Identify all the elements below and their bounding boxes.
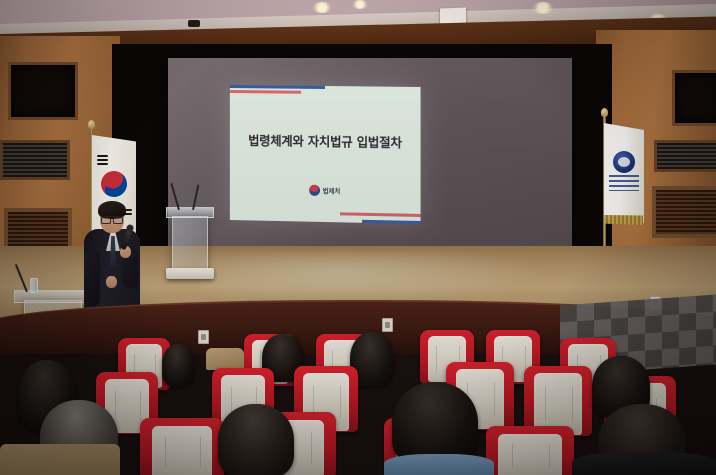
wall-vent-grille <box>654 140 716 172</box>
slide-accent-bar-red-bottom <box>340 212 421 217</box>
trigram <box>97 159 108 161</box>
wall-vent-grille <box>0 140 70 180</box>
slide-title: 법령체계와 자치법규 입법절차 <box>230 131 421 152</box>
ceiling-downlight <box>312 2 332 13</box>
trigram <box>97 163 108 165</box>
slide-logo-text: 법제처 <box>323 186 341 195</box>
glasses-icon <box>101 216 123 222</box>
power-outlet <box>382 318 393 332</box>
taegeuk-circle <box>99 169 130 200</box>
photo-scene: 법령체계와 자치법규 입법절차 법제처 <box>0 0 716 475</box>
slide-accent-bar-red-top <box>230 90 301 94</box>
ceiling-downlight <box>532 2 554 14</box>
projected-slide: 법령체계와 자치법규 입법절차 법제처 <box>230 85 421 224</box>
stage-lectern <box>172 216 208 272</box>
wall-dark-panel <box>8 62 78 120</box>
flag-finial-right <box>601 108 608 117</box>
trigram <box>97 155 108 157</box>
flag-finial-left <box>88 120 95 129</box>
audience-person <box>218 404 294 475</box>
institution-flag <box>604 123 644 223</box>
audience-coat <box>0 444 120 475</box>
power-outlet <box>198 330 209 344</box>
ceiling-camera <box>188 20 200 27</box>
slide-logo: 법제처 <box>230 183 421 198</box>
audience-shoulders <box>572 452 716 475</box>
speaker-hand-rest <box>106 276 117 288</box>
audience-shoulders <box>384 454 494 475</box>
ceiling-downlight <box>352 0 368 9</box>
taegeuk-icon <box>309 185 320 196</box>
water-bottle <box>30 278 38 293</box>
institution-emblem-icon <box>613 151 635 173</box>
wall-louver-panel <box>652 186 716 238</box>
seat-pad <box>498 434 562 475</box>
seat-pad <box>152 426 212 475</box>
audience-person <box>162 344 194 386</box>
slide-accent-bar-blue-top <box>230 85 325 89</box>
stage-lectern-base <box>166 268 214 279</box>
speaker-arm-right <box>84 250 100 306</box>
draped-coat <box>206 348 244 370</box>
institution-flag-text <box>609 175 639 191</box>
wall-dark-panel <box>672 70 716 126</box>
stage-floor-reflection <box>200 252 550 304</box>
flag-fringe-right <box>604 215 643 225</box>
